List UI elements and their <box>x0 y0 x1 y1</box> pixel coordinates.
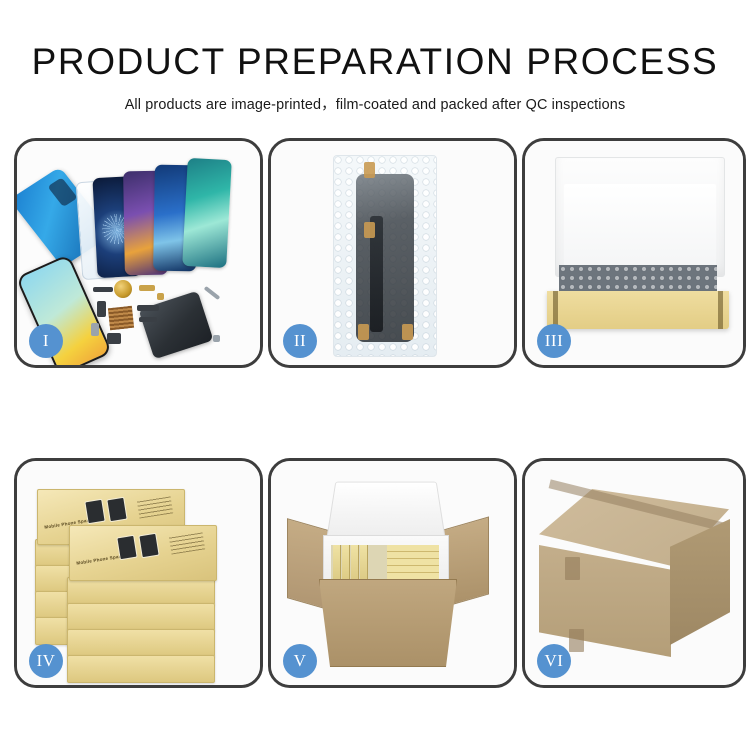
part-strip-1 <box>93 287 113 292</box>
page-subtitle: All products are image-printed，film-coat… <box>0 80 750 114</box>
stacked-box-front-3 <box>67 629 215 657</box>
process-step-panel-5[interactable]: V <box>268 458 517 688</box>
carton-tab-upper <box>565 557 580 580</box>
step-badge-3: III <box>537 324 571 358</box>
bubble-wrap-bag <box>333 155 437 357</box>
stacked-box-top-front: Mobile Phone Spare Parts <box>69 525 217 581</box>
part-camera <box>91 323 99 336</box>
tweezer-tool <box>204 286 221 300</box>
process-step-panel-3[interactable]: III <box>522 138 746 368</box>
sealed-carton-left-face <box>539 545 671 657</box>
tape-piece-top <box>364 162 375 178</box>
speaker-coil-part <box>114 280 132 298</box>
part-chip-1 <box>97 301 106 317</box>
part-small-screw <box>213 335 220 342</box>
process-step-panel-4[interactable]: Mobile Phone Spare Parts Mobile Phone Sp… <box>14 458 263 688</box>
page-title: PRODUCT PREPARATION PROCESS <box>0 0 750 80</box>
stacked-box-front-2 <box>67 603 215 631</box>
inner-box-front-panel <box>547 291 729 329</box>
box-stack: Mobile Phone Spare Parts Mobile Phone Sp… <box>35 481 245 677</box>
part-module <box>107 333 121 344</box>
process-step-panel-2[interactable]: II <box>268 138 517 368</box>
step-badge-4: IV <box>29 644 63 678</box>
part-flex-cable-2 <box>139 317 157 322</box>
box-text-lines-front <box>169 531 205 554</box>
box-chip-image-rear-1 <box>84 499 105 525</box>
step-badge-1: I <box>29 324 63 358</box>
phone-back-housing <box>138 291 213 360</box>
step-badge-5: V <box>283 644 317 678</box>
part-flex-cable-1 <box>137 305 159 311</box>
part-screw <box>157 293 164 300</box>
tape-piece-bottom-right <box>402 324 413 340</box>
part-strip-gold <box>139 285 155 291</box>
process-step-panel-6[interactable]: VI <box>522 458 746 688</box>
step-badge-6: VI <box>537 644 571 678</box>
carton-body <box>319 579 457 667</box>
wrapped-phone-part <box>356 174 414 342</box>
carton-tab-lower <box>569 629 584 652</box>
inner-box-foam-lid <box>555 157 725 277</box>
box-text-lines-rear <box>137 495 173 518</box>
step-badge-2: II <box>283 324 317 358</box>
box-chip-image-rear-2 <box>106 497 127 523</box>
stacked-box-front-4 <box>67 655 215 683</box>
stacked-box-front-1 <box>67 577 215 605</box>
box-chip-image-front-1 <box>116 535 137 561</box>
foam-insert-lid <box>326 482 446 542</box>
box-chip-image-front-2 <box>138 533 159 559</box>
phone-screen-teal <box>182 158 232 268</box>
process-step-panel-1[interactable]: I <box>14 138 263 368</box>
tape-piece-mid <box>364 222 375 238</box>
copper-grid-part <box>108 306 134 330</box>
page-header: PRODUCT PREPARATION PROCESS All products… <box>0 0 750 130</box>
process-step-grid: I II III <box>14 138 736 688</box>
tape-piece-bottom-left <box>358 324 369 340</box>
